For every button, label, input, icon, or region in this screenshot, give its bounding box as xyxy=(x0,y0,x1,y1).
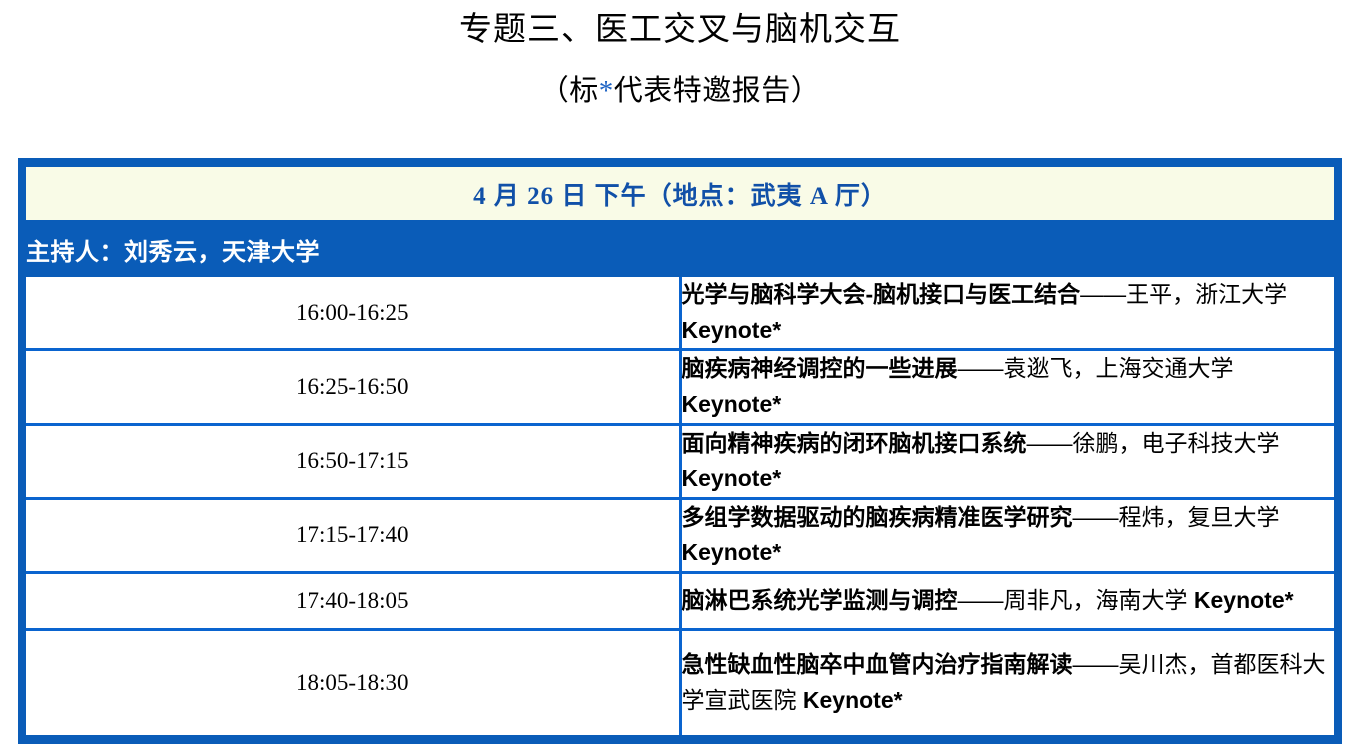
host-cell: 主持人：刘秀云，天津大学 xyxy=(26,222,1334,276)
schedule-page: 专题三、医工交叉与脑机交互 （标*代表特邀报告） 4 月 26 日 下午（地点：… xyxy=(0,0,1360,688)
table-row: 17:15-17:40多组学数据驱动的脑疾病精准医学研究——程炜，复旦大学 Ke… xyxy=(26,498,1334,572)
session-speaker: 徐鹏，电子科技大学 xyxy=(1073,430,1280,456)
session-speaker: 周非凡，海南大学 xyxy=(1004,587,1188,613)
session-detail: 面向精神疾病的闭环脑机接口系统——徐鹏，电子科技大学 Keynote* xyxy=(680,424,1334,498)
host-row: 主持人：刘秀云，天津大学 xyxy=(26,222,1334,276)
date-venue-cell: 4 月 26 日 下午（地点：武夷 A 厅） xyxy=(26,167,1334,222)
session-time: 18:05-18:30 xyxy=(26,630,680,736)
session-speaker: 王平，浙江大学 xyxy=(1126,281,1287,307)
table-row: 18:05-18:30急性缺血性脑卒中血管内治疗指南解读——吴川杰，首都医科大学… xyxy=(26,630,1334,736)
page-subtitle: （标*代表特邀报告） xyxy=(0,73,1360,109)
session-title: 光学与脑科学大会-脑机接口与医工结合 xyxy=(682,281,1081,307)
session-time: 17:15-17:40 xyxy=(26,498,680,572)
session-dash: —— xyxy=(1080,281,1126,307)
session-dash: —— xyxy=(958,587,1004,613)
session-title: 面向精神疾病的闭环脑机接口系统 xyxy=(682,430,1027,456)
schedule-table: 4 月 26 日 下午（地点：武夷 A 厅） 主持人：刘秀云，天津大学 16:0… xyxy=(26,167,1334,735)
schedule-table-container: 4 月 26 日 下午（地点：武夷 A 厅） 主持人：刘秀云，天津大学 16:0… xyxy=(18,158,1342,744)
table-row: 16:00-16:25光学与脑科学大会-脑机接口与医工结合——王平，浙江大学 K… xyxy=(26,276,1334,350)
date-venue-row: 4 月 26 日 下午（地点：武夷 A 厅） xyxy=(26,167,1334,222)
session-speaker: 程炜，复旦大学 xyxy=(1119,504,1280,530)
session-detail: 脑疾病神经调控的一些进展——袁逖飞，上海交通大学 Keynote* xyxy=(680,350,1334,424)
session-speaker: 袁逖飞，上海交通大学 xyxy=(1004,355,1234,381)
schedule-table-body: 4 月 26 日 下午（地点：武夷 A 厅） 主持人：刘秀云，天津大学 xyxy=(26,167,1334,276)
session-detail: 光学与脑科学大会-脑机接口与医工结合——王平，浙江大学 Keynote* xyxy=(680,276,1334,350)
session-keynote-tag: Keynote* xyxy=(682,391,782,417)
session-dash: —— xyxy=(1073,651,1119,677)
table-row: 16:50-17:15面向精神疾病的闭环脑机接口系统——徐鹏，电子科技大学 Ke… xyxy=(26,424,1334,498)
session-dash: —— xyxy=(958,355,1004,381)
subtitle-asterisk: * xyxy=(599,75,614,107)
session-detail: 多组学数据驱动的脑疾病精准医学研究——程炜，复旦大学 Keynote* xyxy=(680,498,1334,572)
session-keynote-tag: Keynote* xyxy=(1194,587,1294,613)
session-title: 脑淋巴系统光学监测与调控 xyxy=(682,587,958,613)
session-dash: —— xyxy=(1027,430,1073,456)
session-detail: 急性缺血性脑卒中血管内治疗指南解读——吴川杰，首都医科大学宣武医院 Keynot… xyxy=(680,630,1334,736)
table-row: 16:25-16:50脑疾病神经调控的一些进展——袁逖飞，上海交通大学 Keyn… xyxy=(26,350,1334,424)
session-time: 16:00-16:25 xyxy=(26,276,680,350)
session-rows: 16:00-16:25光学与脑科学大会-脑机接口与医工结合——王平，浙江大学 K… xyxy=(26,276,1334,736)
session-time: 17:40-18:05 xyxy=(26,573,680,630)
session-detail: 脑淋巴系统光学监测与调控——周非凡，海南大学 Keynote* xyxy=(680,573,1334,630)
session-title: 多组学数据驱动的脑疾病精准医学研究 xyxy=(682,504,1073,530)
title-block: 专题三、医工交叉与脑机交互 （标*代表特邀报告） xyxy=(0,0,1360,110)
session-dash: —— xyxy=(1073,504,1119,530)
session-time: 16:25-16:50 xyxy=(26,350,680,424)
session-title: 急性缺血性脑卒中血管内治疗指南解读 xyxy=(682,651,1073,677)
subtitle-prefix: （标 xyxy=(540,75,599,107)
table-row: 17:40-18:05脑淋巴系统光学监测与调控——周非凡，海南大学 Keynot… xyxy=(26,573,1334,630)
session-title: 脑疾病神经调控的一些进展 xyxy=(682,355,958,381)
session-keynote-tag: Keynote* xyxy=(803,687,903,713)
session-time: 16:50-17:15 xyxy=(26,424,680,498)
page-title: 专题三、医工交叉与脑机交互 xyxy=(0,10,1360,51)
session-keynote-tag: Keynote* xyxy=(682,317,782,343)
session-keynote-tag: Keynote* xyxy=(682,465,782,491)
session-keynote-tag: Keynote* xyxy=(682,539,782,565)
subtitle-suffix: 代表特邀报告） xyxy=(614,75,821,107)
